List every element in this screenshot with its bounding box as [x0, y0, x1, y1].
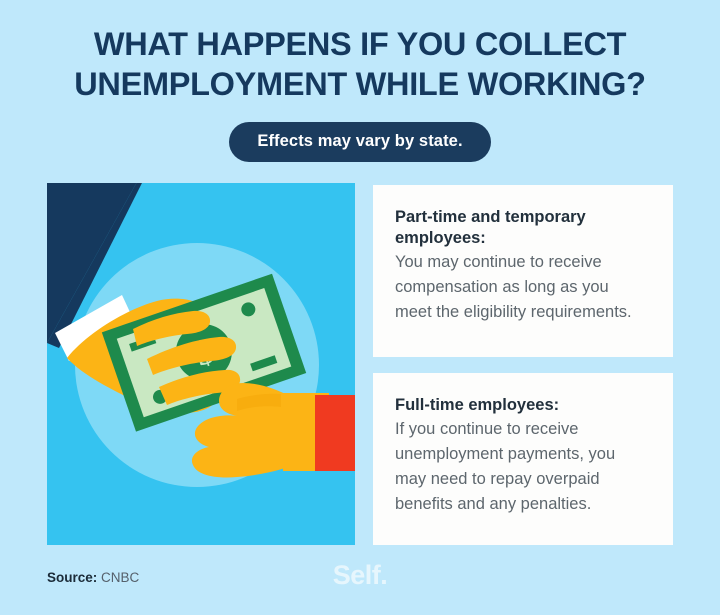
info-card-body: You may continue to receive compensation…: [395, 250, 649, 325]
page-title-line-1: WHAT HAPPENS IF YOU COLLECT: [0, 24, 720, 64]
info-card-heading: Full-time employees:: [395, 395, 649, 416]
red-sleeve-cuff: [315, 395, 355, 471]
infographic-root: WHAT HAPPENS IF YOU COLLECT UNEMPLOYMENT…: [0, 0, 720, 615]
info-card-full-time: Full-time employees: If you continue to …: [373, 373, 673, 545]
status-badge: Effects may vary by state.: [229, 122, 490, 162]
info-card-heading: Part-time and temporary employees:: [395, 207, 649, 249]
illustration-panel: $: [47, 183, 355, 545]
info-card-part-time: Part-time and temporary employees: You m…: [373, 185, 673, 357]
page-title-line-2: UNEMPLOYMENT WHILE WORKING?: [0, 64, 720, 104]
brand-watermark: Self.: [0, 560, 720, 591]
page-title: WHAT HAPPENS IF YOU COLLECT UNEMPLOYMENT…: [0, 24, 720, 104]
info-card-body: If you continue to receive unemployment …: [395, 417, 649, 517]
subtitle-badge-container: Effects may vary by state.: [0, 122, 720, 162]
hand-passing-cash-illustration: $: [47, 183, 355, 545]
